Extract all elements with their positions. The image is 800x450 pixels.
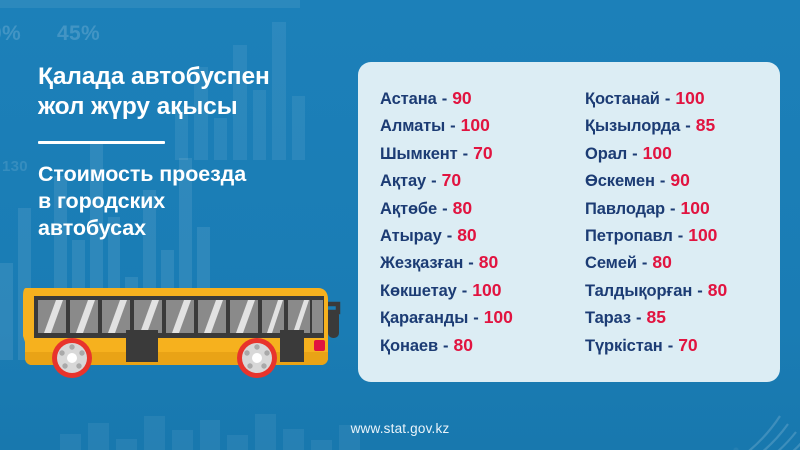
headline-kazakh-line-2: жол жүру ақысы bbox=[38, 92, 343, 122]
price-value: 100 bbox=[675, 88, 704, 109]
table-row: Өскемен-90 bbox=[585, 170, 780, 197]
price-value: 70 bbox=[442, 170, 461, 191]
separator: - bbox=[660, 172, 666, 191]
headline-kazakh: Қалада автобуспен жол жүру ақысы bbox=[38, 62, 343, 122]
separator: - bbox=[450, 117, 456, 136]
city-name: Ақтау bbox=[380, 172, 426, 191]
price-value: 85 bbox=[696, 115, 715, 136]
separator: - bbox=[463, 145, 469, 164]
headline-russian: Стоимость проезда в городских автобусах bbox=[38, 161, 343, 243]
table-row: Талдықорған-80 bbox=[585, 280, 780, 307]
separator: - bbox=[668, 337, 674, 356]
table-row: Қостанай-100 bbox=[585, 88, 780, 115]
city-name: Көкшетау bbox=[380, 282, 457, 301]
separator: - bbox=[697, 282, 703, 301]
city-name: Павлодар bbox=[585, 200, 665, 219]
price-value: 80 bbox=[454, 335, 473, 356]
table-row: Атырау-80 bbox=[380, 225, 585, 252]
decor-number-c: 130 bbox=[2, 158, 28, 175]
separator: - bbox=[685, 117, 691, 136]
table-row: Семей-80 bbox=[585, 252, 780, 279]
separator: - bbox=[473, 309, 479, 328]
table-row: Қонаев-80 bbox=[380, 335, 585, 362]
separator: - bbox=[442, 200, 448, 219]
separator: - bbox=[665, 90, 671, 109]
price-value: 70 bbox=[473, 143, 492, 164]
price-value: 80 bbox=[453, 198, 472, 219]
table-row: Алматы-100 bbox=[380, 115, 585, 142]
table-row: Қарағанды-100 bbox=[380, 307, 585, 334]
table-row: Петропавл-100 bbox=[585, 225, 780, 252]
city-name: Қызылорда bbox=[585, 117, 680, 136]
separator: - bbox=[447, 227, 453, 246]
price-value: 85 bbox=[647, 307, 666, 328]
infographic-canvas: 0% 45% 130 20 10 50 Қалада автобуспен жо… bbox=[0, 0, 800, 450]
city-name: Талдықорған bbox=[585, 282, 692, 301]
table-row: Тараз-85 bbox=[585, 307, 780, 334]
price-column-right: Қостанай-100 Қызылорда-85 Орал-100 Өскем… bbox=[585, 88, 780, 362]
table-row: Ақтөбе-80 bbox=[380, 198, 585, 225]
separator: - bbox=[462, 282, 468, 301]
city-name: Түркістан bbox=[585, 337, 663, 356]
headline-kazakh-line-1: Қалада автобуспен bbox=[38, 62, 343, 92]
price-value: 70 bbox=[678, 335, 697, 356]
city-name: Өскемен bbox=[585, 172, 655, 191]
decor-percent-a: 0% bbox=[0, 22, 21, 46]
price-value: 80 bbox=[708, 280, 727, 301]
price-value: 100 bbox=[643, 143, 672, 164]
table-row: Орал-100 bbox=[585, 143, 780, 170]
price-value: 100 bbox=[681, 198, 710, 219]
headline-russian-line-1: Стоимость проезда bbox=[38, 161, 343, 188]
city-name: Алматы bbox=[380, 117, 445, 136]
bus-door-rear bbox=[280, 330, 304, 362]
bus-wheel-rear bbox=[52, 338, 92, 378]
headline-block: Қалада автобуспен жол жүру ақысы Стоимос… bbox=[38, 62, 343, 243]
decor-top-line bbox=[0, 0, 300, 8]
price-value: 100 bbox=[461, 115, 490, 136]
headline-divider bbox=[38, 141, 165, 144]
separator: - bbox=[431, 172, 437, 191]
city-name: Қарағанды bbox=[380, 309, 468, 328]
city-name: Жезқазған bbox=[380, 254, 463, 273]
city-name: Атырау bbox=[380, 227, 442, 246]
price-value: 80 bbox=[479, 252, 498, 273]
table-row: Түркістан-70 bbox=[585, 335, 780, 362]
price-value: 90 bbox=[670, 170, 689, 191]
city-name: Қостанай bbox=[585, 90, 660, 109]
separator: - bbox=[443, 337, 449, 356]
price-value: 100 bbox=[484, 307, 513, 328]
bus-door-front bbox=[126, 330, 158, 362]
headline-russian-line-3: автобусах bbox=[38, 215, 343, 242]
table-row: Қызылорда-85 bbox=[585, 115, 780, 142]
table-row: Жезқазған-80 bbox=[380, 252, 585, 279]
price-value: 80 bbox=[652, 252, 671, 273]
footer-url[interactable]: www.stat.gov.kz bbox=[0, 421, 800, 436]
separator: - bbox=[670, 200, 676, 219]
table-row: Павлодар-100 bbox=[585, 198, 780, 225]
price-value: 100 bbox=[688, 225, 717, 246]
bus-tail-light bbox=[314, 340, 325, 351]
decor-percent-b: 45% bbox=[57, 22, 100, 46]
separator: - bbox=[442, 90, 448, 109]
price-table-panel: Астана-90 Алматы-100 Шымкент-70 Ақтау-70… bbox=[358, 62, 780, 382]
bus-wheel-front bbox=[237, 338, 277, 378]
city-name: Астана bbox=[380, 90, 437, 109]
city-name: Петропавл bbox=[585, 227, 673, 246]
separator: - bbox=[468, 254, 474, 273]
separator: - bbox=[632, 145, 638, 164]
price-value: 90 bbox=[452, 88, 471, 109]
price-value: 80 bbox=[457, 225, 476, 246]
price-value: 100 bbox=[472, 280, 501, 301]
separator: - bbox=[636, 309, 642, 328]
city-name: Орал bbox=[585, 145, 627, 164]
table-row: Шымкент-70 bbox=[380, 143, 585, 170]
city-name: Ақтөбе bbox=[380, 200, 437, 219]
city-name: Тараз bbox=[585, 309, 631, 328]
bus-illustration bbox=[22, 282, 342, 387]
city-name: Шымкент bbox=[380, 145, 458, 164]
city-name: Семей bbox=[585, 254, 637, 273]
table-row: Астана-90 bbox=[380, 88, 585, 115]
price-column-left: Астана-90 Алматы-100 Шымкент-70 Ақтау-70… bbox=[380, 88, 585, 362]
separator: - bbox=[642, 254, 648, 273]
table-row: Көкшетау-100 bbox=[380, 280, 585, 307]
headline-russian-line-2: в городских bbox=[38, 188, 343, 215]
city-name: Қонаев bbox=[380, 337, 438, 356]
separator: - bbox=[678, 227, 684, 246]
table-row: Ақтау-70 bbox=[380, 170, 585, 197]
